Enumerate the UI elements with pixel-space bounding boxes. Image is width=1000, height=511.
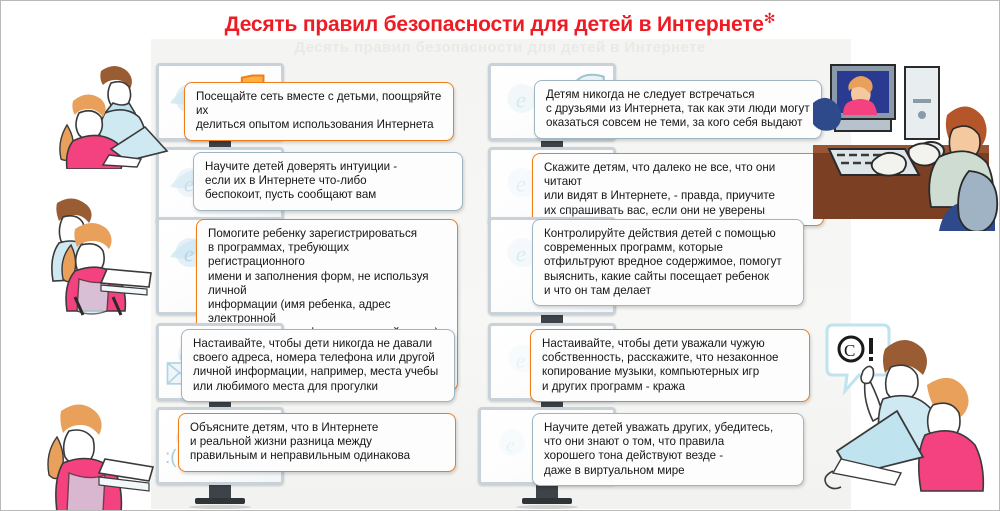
svg-text:e: e bbox=[516, 88, 526, 113]
rule-10-callout: Научите детей уважать других, убедитесь,… bbox=[532, 413, 804, 486]
asterisk-icon: ✻ bbox=[764, 10, 776, 26]
rule-5-callout: Объясните детям, что в Интернете и реаль… bbox=[178, 413, 456, 472]
girl-at-monitor-illustration bbox=[35, 397, 155, 511]
rule-4-text: Настаивайте, чтобы дети никогда не давал… bbox=[193, 337, 443, 394]
rule-4-callout: Настаивайте, чтобы дети никогда не давал… bbox=[181, 329, 455, 402]
rule-6-callout: Детям никогда не следует встречаться с д… bbox=[534, 80, 822, 139]
svg-text:e: e bbox=[184, 242, 194, 267]
svg-text:e: e bbox=[516, 172, 526, 197]
monitor-5-base bbox=[195, 498, 245, 504]
svg-text::(: :( bbox=[165, 447, 177, 468]
man-at-desktop-computer-illustration bbox=[813, 53, 1000, 231]
internet-explorer-logo-icon: e bbox=[489, 418, 535, 464]
rule-5-text: Объясните детям, что в Интернете и реаль… bbox=[190, 421, 444, 464]
monitor-10-base-shadow bbox=[516, 505, 578, 509]
monitor-10-base bbox=[522, 498, 572, 504]
rule-2-text: Научите детей доверять интуиции - если и… bbox=[205, 160, 451, 203]
boy-pointing-with-copyright-bubble-illustration: C bbox=[821, 323, 997, 495]
page-title: Десять правил безопасности для детей в И… bbox=[1, 10, 999, 37]
svg-text:e: e bbox=[516, 242, 526, 267]
rule-2-callout: Научите детей доверять интуиции - если и… bbox=[193, 152, 463, 211]
boy-and-girl-at-laptop-illustration bbox=[49, 59, 171, 169]
monitor-5-stand bbox=[209, 485, 231, 498]
svg-text:C: C bbox=[844, 341, 855, 360]
rule-6-text: Детям никогда не следует встречаться с д… bbox=[546, 88, 810, 131]
infographic-poster: Десять правил безопасности для детей в И… bbox=[0, 0, 1000, 511]
rule-10-text: Научите детей уважать других, убедитесь,… bbox=[544, 421, 792, 478]
rule-9-text: Настаивайте, чтобы дети уважали чужую со… bbox=[542, 337, 798, 394]
svg-text:e: e bbox=[506, 435, 515, 457]
rule-9-callout: Настаивайте, чтобы дети уважали чужую со… bbox=[530, 329, 810, 402]
svg-text:e: e bbox=[516, 349, 526, 373]
rule-8-callout: Контролируйте действия детей с помощью с… bbox=[532, 219, 804, 306]
monitor-5-base-shadow bbox=[189, 505, 251, 509]
rule-8-text: Контролируйте действия детей с помощью с… bbox=[544, 227, 792, 298]
rule-7-text: Скажите детям, что далеко не все, что он… bbox=[544, 161, 812, 218]
rule-7-callout: Скажите детям, что далеко не все, что он… bbox=[532, 153, 824, 226]
monitor-10-stand bbox=[536, 485, 558, 498]
boy-and-girl-at-desk-illustration bbox=[31, 197, 157, 317]
page-title-text: Десять правил безопасности для детей в И… bbox=[225, 13, 764, 36]
rule-1-callout: Посещайте сеть вместе с детьми, поощряйт… bbox=[184, 82, 454, 141]
rule-1-text: Посещайте сеть вместе с детьми, поощряйт… bbox=[196, 90, 442, 133]
